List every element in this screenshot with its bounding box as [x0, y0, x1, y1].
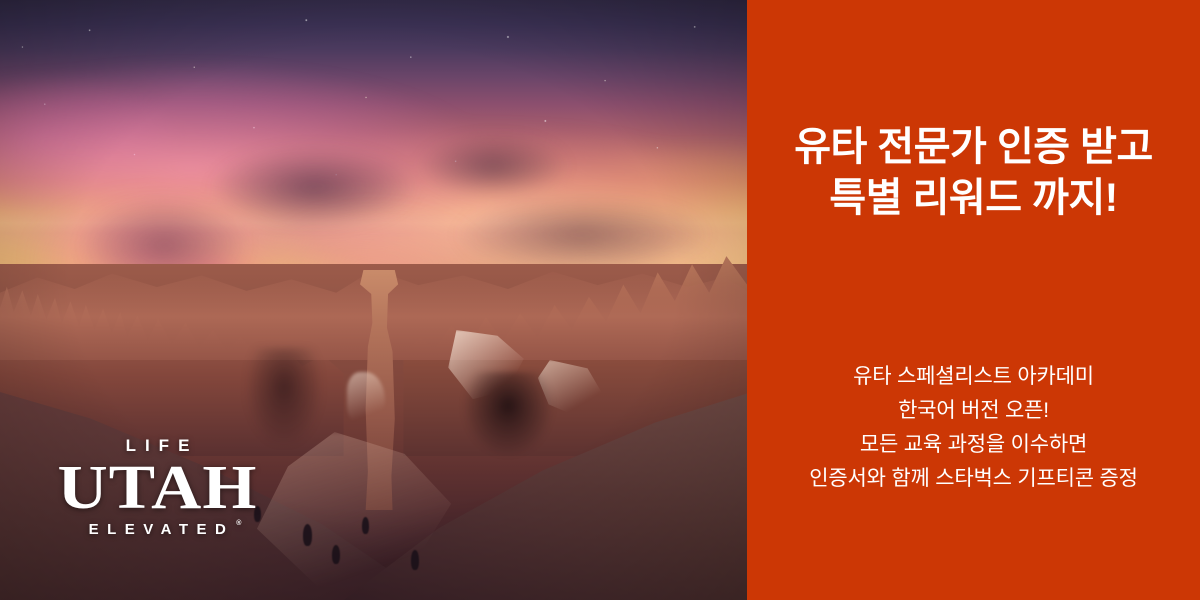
- subcopy-line-3: 모든 교육 과정을 이수하면: [747, 428, 1200, 462]
- subcopy-line-1: 유타 스페셜리스트 아카데미: [747, 360, 1200, 394]
- pine-tree: [303, 524, 312, 546]
- logo-word-utah: UTAH: [43, 459, 273, 519]
- subcopy-line-2: 한국어 버전 오픈!: [747, 394, 1200, 428]
- hero-photo-bryce-canyon: LIFE UTAH ELEVATED®: [0, 0, 747, 600]
- trademark-icon: ®: [236, 520, 241, 527]
- promo-banner: LIFE UTAH ELEVATED® 유타 전문가 인증 받고 특별 리워드 …: [0, 0, 1200, 600]
- copy-panel: 유타 전문가 인증 받고 특별 리워드 까지! 유타 스페셜리스트 아카데미 한…: [747, 0, 1200, 600]
- pine-tree: [332, 545, 340, 564]
- rock-highlight: [347, 372, 384, 426]
- logo-elevated-text: ELEVATED: [89, 521, 235, 538]
- logo-word-life: LIFE: [55, 437, 260, 454]
- pine-tree: [411, 550, 419, 570]
- pine-tree: [362, 517, 369, 534]
- logo-word-elevated: ELEVATED®: [81, 522, 235, 537]
- canyon-shadow: [247, 348, 322, 444]
- headline: 유타 전문가 인증 받고 특별 리워드 까지!: [747, 122, 1200, 224]
- headline-line-2: 특별 리워드 까지!: [747, 173, 1200, 224]
- utah-life-elevated-logo: LIFE UTAH ELEVATED®: [55, 437, 260, 539]
- headline-line-1: 유타 전문가 인증 받고: [747, 122, 1200, 173]
- canyon-shadow: [463, 372, 553, 456]
- subcopy-line-4: 인증서와 함께 스타벅스 기프티콘 증정: [747, 462, 1200, 496]
- subcopy: 유타 스페셜리스트 아카데미 한국어 버전 오픈! 모든 교육 과정을 이수하면…: [747, 360, 1200, 496]
